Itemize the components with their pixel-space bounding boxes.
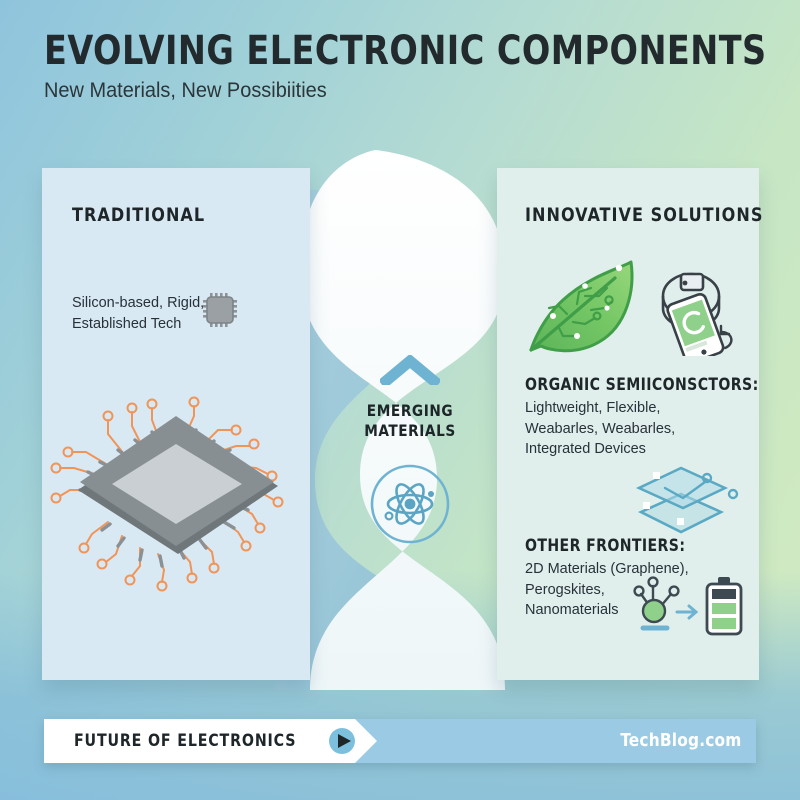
emerging-materials-block: EMERGING MATERIALS (330, 355, 490, 546)
section-title: ORGANIC SEMIICONSCTORS: (525, 375, 729, 394)
footer-brand[interactable]: TechBlog.com (621, 730, 742, 751)
atom-icon (368, 462, 452, 546)
chevron-up-icon (380, 355, 440, 385)
traditional-heading: TRADITIONAL (72, 204, 205, 226)
page-title: EVOLVING ELECTRONIC COMPONENTS (44, 30, 767, 72)
isometric-processor-icon (46, 386, 306, 636)
section-organic-semiconductors: ORGANIC SEMIICONSCTORS: Lightweight, Fle… (525, 375, 740, 460)
2d-material-layers-icon (625, 450, 741, 540)
infographic-canvas: EVOLVING ELECTRONIC COMPONENTS New Mater… (0, 0, 800, 800)
circuit-leaf-icon (519, 250, 639, 360)
page-subtitle: New Materials, New Possibiities (44, 79, 782, 103)
play-arrow-icon[interactable] (319, 719, 379, 763)
footer-arrow-wrap (319, 719, 379, 763)
innovative-panel: INNOVATIVE SOLUTIONS (497, 168, 759, 680)
traditional-panel: TRADITIONAL Silicon-based, Rigid, Establ… (42, 168, 310, 680)
emerging-label-line2: MATERIALS (334, 421, 486, 441)
section-line: Lightweight, Flexible, (525, 398, 740, 419)
footer-label: FUTURE OF ELECTRONICS (74, 731, 296, 751)
innovative-heading: INNOVATIVE SOLUTIONS (525, 204, 763, 226)
section-line: Weabarles, Weabarles, (525, 419, 740, 440)
smartwatch-phone-icon (643, 256, 743, 356)
nanomaterial-battery-icon (619, 566, 749, 644)
footer-bar: FUTURE OF ELECTRONICS TechBlog.com (44, 719, 756, 763)
emerging-label-line1: EMERGING (334, 401, 486, 421)
microchip-icon (200, 290, 240, 330)
header: EVOLVING ELECTRONIC COMPONENTS New Mater… (44, 30, 800, 103)
